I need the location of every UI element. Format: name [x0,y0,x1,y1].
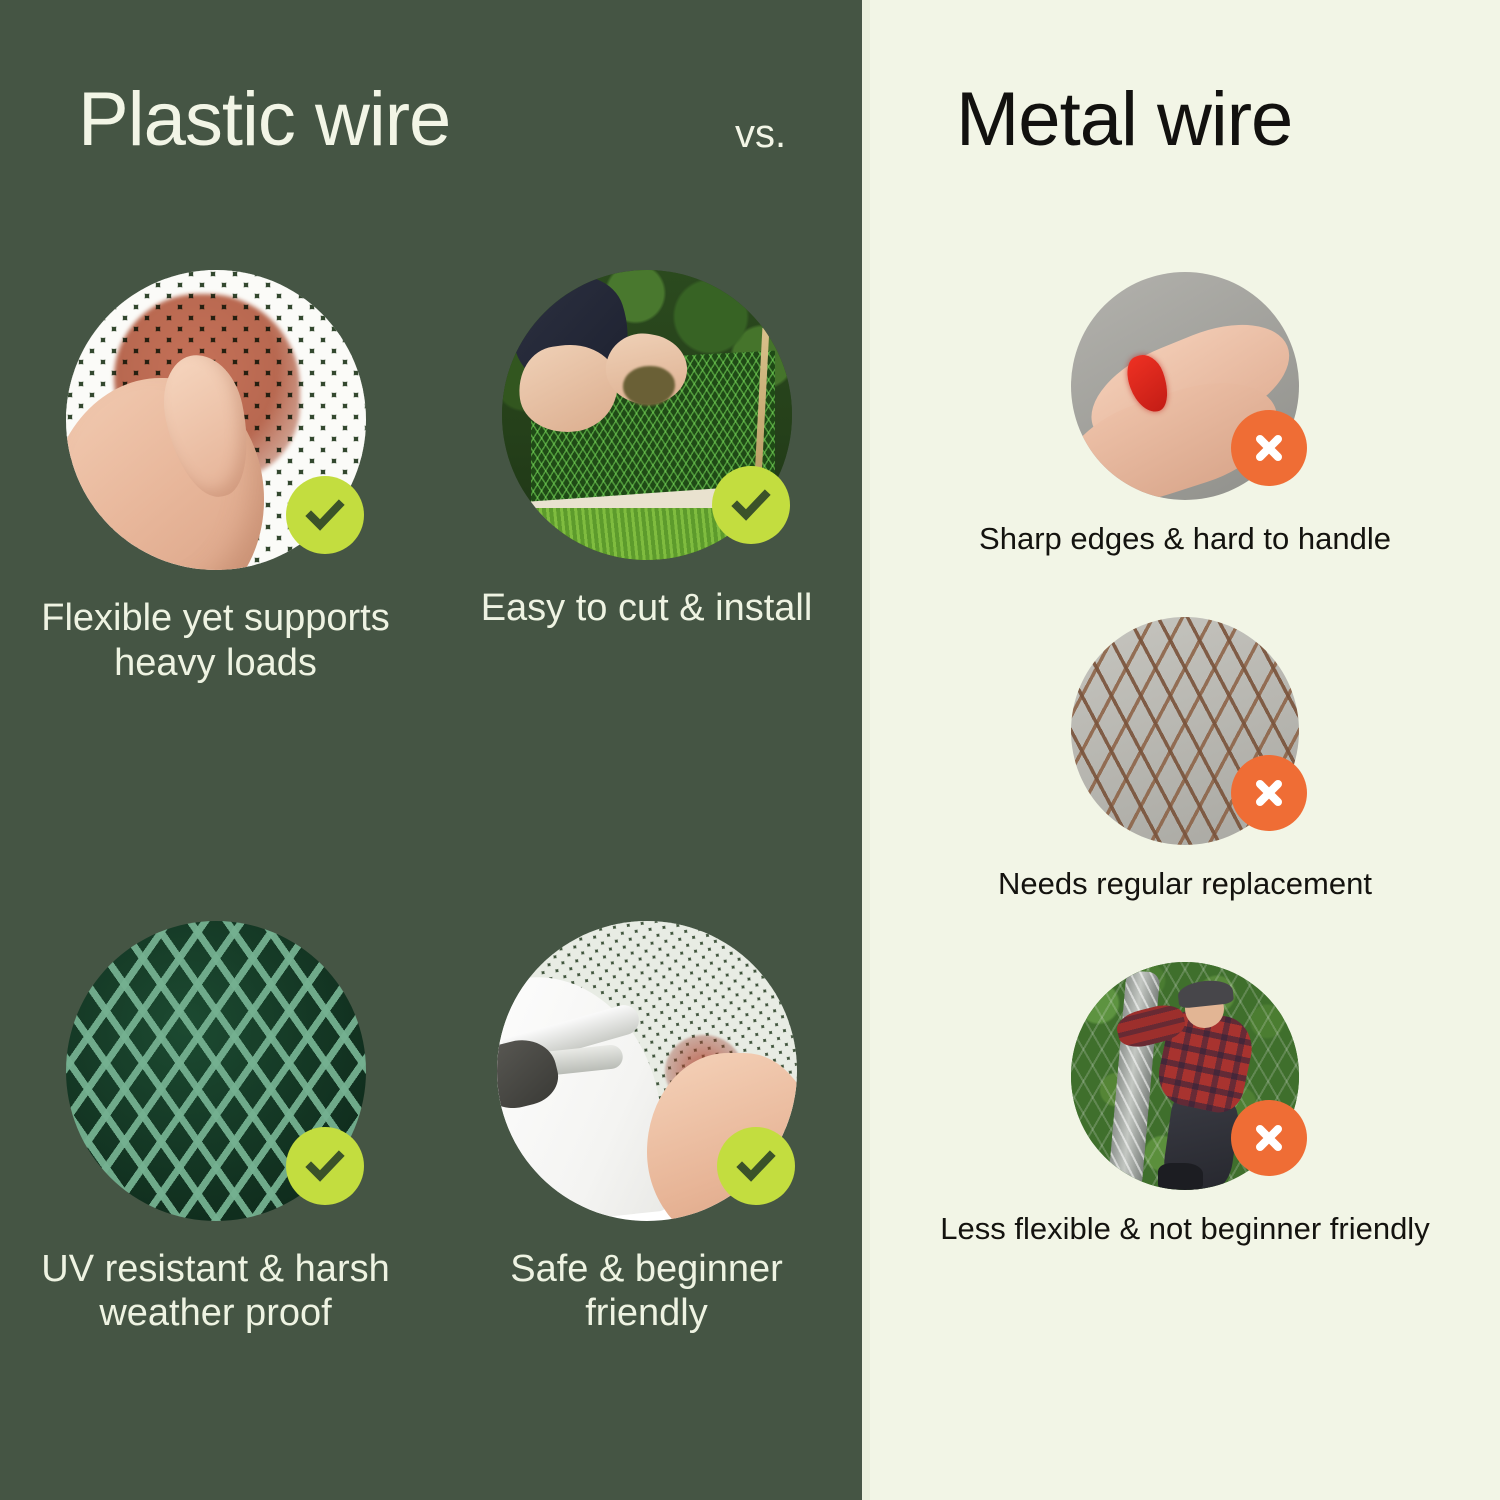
metal-drawback-card-1: Sharp edges & hard to handle [905,272,1465,557]
metal-drawback-2-media [1071,617,1299,845]
plastic-feature-3-media [66,921,366,1221]
plastic-feature-3-caption: UV resistant & harsh weather proof [16,1247,416,1337]
plastic-feature-4-caption: Safe & beginner friendly [447,1247,847,1337]
plastic-feature-2-caption: Easy to cut & install [447,586,847,631]
comparison-infographic: Plastic wire vs. [0,0,1500,1500]
metal-drawback-3-caption: Less flexible & not beginner friendly [905,1210,1465,1247]
metal-drawback-1-caption: Sharp edges & hard to handle [905,520,1465,557]
plastic-feature-2-media [502,270,792,560]
plastic-feature-4-media [497,921,797,1221]
vs-label: vs. [735,112,786,157]
metal-drawback-3-media [1071,962,1299,1190]
plastic-feature-card-4: Safe & beginner friendly [431,921,862,1337]
metal-drawback-1-media [1071,272,1299,500]
check-badge [286,1127,364,1205]
photo-boot [1158,1163,1204,1190]
panel-divider [862,0,870,1500]
plastic-feature-1-caption: Flexible yet supports heavy loads [16,596,416,686]
cross-badge [1231,410,1307,486]
check-badge [286,476,364,554]
metal-drawback-list: Sharp edges & hard to handle Needs regul… [870,272,1500,1248]
plastic-feature-card-3: UV resistant & harsh weather proof [0,921,431,1337]
metal-drawback-2-caption: Needs regular replacement [905,865,1465,902]
plastic-wire-panel: Plastic wire vs. [0,0,862,1500]
cross-badge [1231,1100,1307,1176]
check-badge [712,466,790,544]
check-badge [717,1127,795,1205]
plastic-feature-card-1: Flexible yet supports heavy loads [0,270,431,686]
metal-drawback-card-2: Needs regular replacement [905,617,1465,902]
cross-badge [1231,755,1307,831]
plastic-feature-row-2: UV resistant & harsh weather proof [0,921,862,1337]
plastic-feature-row-1: Flexible yet supports heavy loads [0,270,862,686]
metal-drawback-card-3: Less flexible & not beginner friendly [905,962,1465,1247]
metal-wire-panel: Metal wire Sharp edges & hard [870,0,1500,1500]
plastic-feature-1-media [66,270,366,570]
metal-wire-title: Metal wire [956,76,1292,163]
plastic-feature-grid: Flexible yet supports heavy loads [0,270,862,1336]
plastic-feature-card-2: Easy to cut & install [431,270,862,686]
plastic-wire-title: Plastic wire [78,76,450,163]
